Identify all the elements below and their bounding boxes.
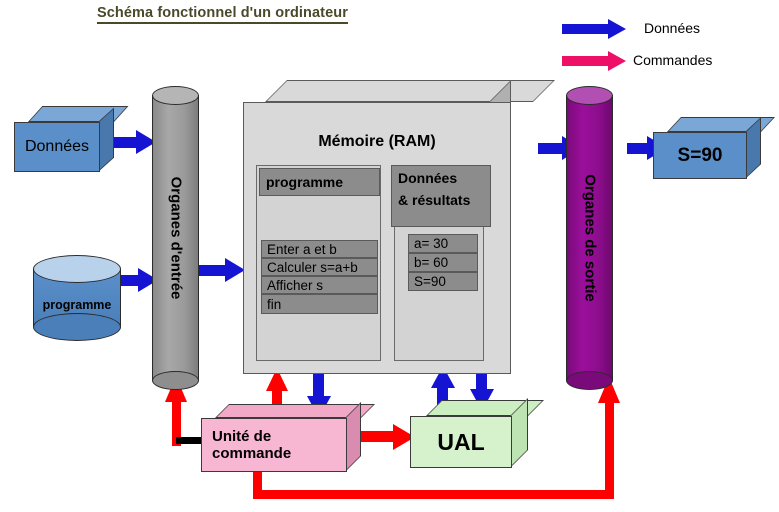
pink-arrow-icon bbox=[562, 56, 610, 66]
control-unit-front-face: Unité de commande bbox=[201, 418, 347, 472]
input-devices-label: Organes d'entrée bbox=[167, 177, 184, 300]
control-unit-box[interactable]: Unité de commande bbox=[201, 404, 361, 472]
pink-arrow-head-icon bbox=[608, 51, 626, 71]
page-title: Schéma fonctionnel d'un ordinateur bbox=[97, 5, 348, 24]
program-line-3: Afficher s bbox=[261, 276, 378, 294]
data-panel-header-line1: Données bbox=[398, 168, 490, 190]
input-devices-top-cap bbox=[152, 86, 199, 105]
alu-front-face: UAL bbox=[410, 416, 512, 468]
output-devices-label: Organes de sortie bbox=[581, 174, 598, 302]
command-arrow-cu-to-alu-shaft bbox=[355, 431, 397, 442]
program-line-2: Calculer s=a+b bbox=[261, 258, 378, 276]
data-panel: Données & résultats a= 30 b= 60 S=90 bbox=[394, 171, 484, 361]
data-arrow-input-to-ram-head bbox=[225, 258, 245, 282]
command-bus-up-to-input bbox=[172, 400, 181, 422]
data-value-3: S=90 bbox=[408, 272, 478, 291]
data-value-2: b= 60 bbox=[408, 253, 478, 272]
data-value-1: a= 30 bbox=[408, 234, 478, 253]
diagram-canvas: Schéma fonctionnel d'un ordinateur Donné… bbox=[0, 0, 779, 512]
data-panel-header-line2: & résultats bbox=[398, 190, 490, 212]
program-store-cylinder[interactable]: programme bbox=[33, 255, 121, 341]
program-store-top-cap bbox=[33, 255, 121, 283]
legend-item-commandes: Commandes bbox=[562, 51, 777, 71]
command-bus-up-to-output bbox=[605, 400, 614, 495]
input-devices-cylinder[interactable]: Organes d'entrée bbox=[152, 86, 199, 390]
memory-title: Mémoire (RAM) bbox=[244, 133, 510, 151]
legend-label-commandes: Commandes bbox=[633, 52, 712, 68]
program-store-label: programme bbox=[33, 298, 121, 312]
legend-label-donnees: Données bbox=[644, 20, 700, 36]
input-data-box-front-face: Données bbox=[14, 122, 100, 172]
memory-front-face: Mémoire (RAM) programme Enter a et b Cal… bbox=[243, 102, 511, 374]
blue-arrow-head-icon bbox=[608, 19, 626, 39]
program-panel: programme Enter a et b Calculer s=a+b Af… bbox=[256, 165, 381, 361]
output-devices-cylinder[interactable]: Organes de sortie bbox=[566, 86, 613, 390]
input-data-box-label: Données bbox=[25, 138, 89, 156]
output-devices-bottom-cap bbox=[566, 371, 613, 390]
blue-arrow-icon bbox=[562, 24, 610, 34]
output-result-box-front-face: S=90 bbox=[653, 132, 747, 179]
output-result-box-label: S=90 bbox=[678, 145, 723, 167]
output-result-box[interactable]: S=90 bbox=[653, 117, 761, 179]
input-data-box[interactable]: Données bbox=[14, 106, 114, 172]
program-line-4: fin bbox=[261, 294, 378, 314]
program-panel-header: programme bbox=[259, 168, 380, 196]
command-bus-bottom bbox=[253, 490, 614, 499]
memory-block[interactable]: Mémoire (RAM) programme Enter a et b Cal… bbox=[243, 80, 533, 374]
program-store-bottom-cap bbox=[33, 313, 121, 341]
alu-box[interactable]: UAL bbox=[410, 400, 528, 468]
memory-top-face bbox=[265, 80, 555, 102]
control-unit-label-line1: Unité de bbox=[212, 428, 271, 445]
alu-label: UAL bbox=[437, 429, 484, 455]
program-line-1: Enter a et b bbox=[261, 240, 378, 258]
legend-item-donnees: Données bbox=[562, 19, 772, 39]
control-unit-label-line2: commande bbox=[212, 445, 291, 462]
output-devices-top-cap bbox=[566, 86, 613, 105]
input-devices-bottom-cap bbox=[152, 371, 199, 390]
data-panel-header: Données & résultats bbox=[391, 165, 491, 227]
